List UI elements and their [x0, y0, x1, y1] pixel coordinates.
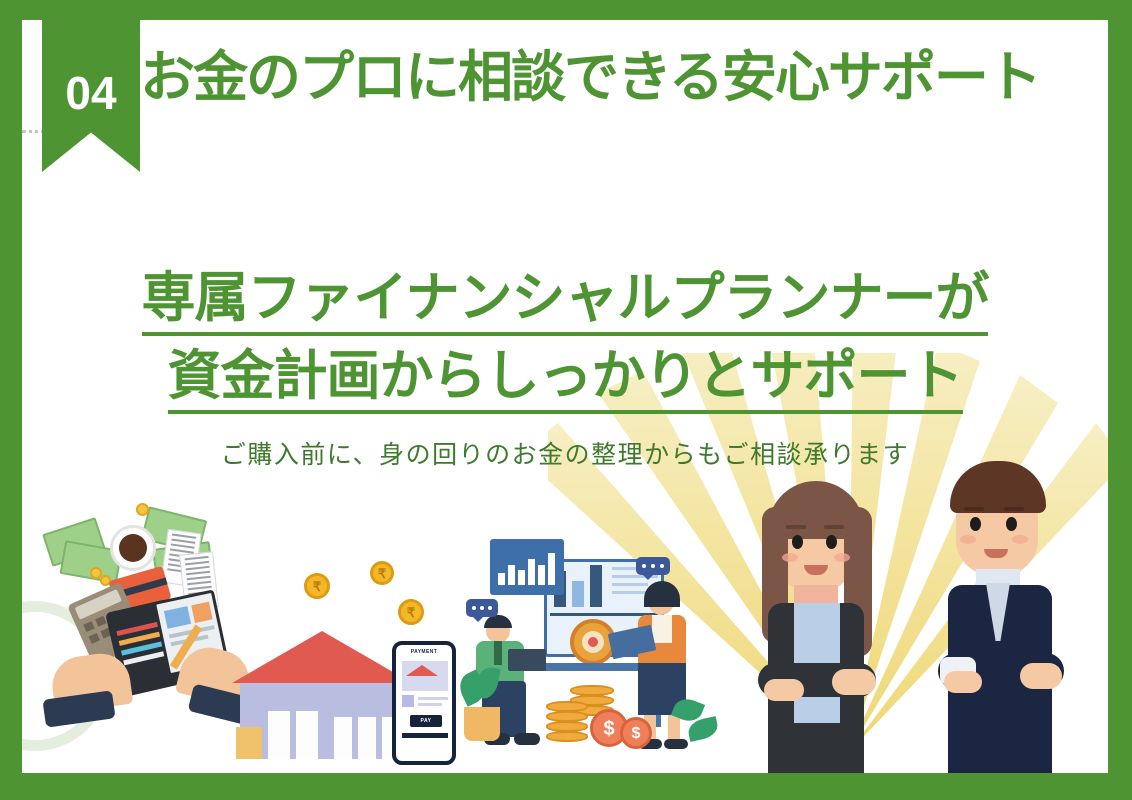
phone-pay-button[interactable]: PAY: [410, 715, 442, 727]
coin-icon: ₹: [398, 599, 424, 625]
slide-canvas: ₹ ₹ ₹ PAYMENT: [22, 20, 1108, 773]
headline-line-2: 資金計画からしっかりとサポート: [168, 343, 963, 414]
scene-office-team: $ $: [462, 523, 732, 773]
slide-root: ₹ ₹ ₹ PAYMENT: [0, 0, 1132, 800]
headline-line-1: 専属ファイナンシャルプランナーが: [142, 265, 989, 336]
scene-house-and-payment: ₹ ₹ ₹ PAYMENT: [230, 543, 460, 773]
illustration-strip: ₹ ₹ ₹ PAYMENT: [22, 453, 1108, 773]
ribbon-number: 04: [65, 66, 116, 120]
dollar-coin-icon: $: [620, 717, 652, 749]
coin-icon: ₹: [304, 573, 330, 599]
headline-block: 専属ファイナンシャルプランナーが 資金計画からしっかりとサポート: [22, 265, 1108, 421]
phone-header-label: PAYMENT: [396, 649, 452, 655]
mobile-payment-phone[interactable]: PAYMENT PAY: [392, 641, 456, 765]
chat-bubble-icon: [466, 599, 498, 617]
scene-two-planners: [718, 433, 1098, 773]
coin-icon: ₹: [370, 561, 394, 585]
planner-woman: [728, 473, 918, 773]
planner-man: [904, 457, 1094, 773]
chat-bubble-icon: [636, 557, 670, 575]
headline-subtitle: ご購入前に、身の回りのお金の整理からもご相談承ります: [22, 435, 1108, 471]
page-title: お金のプロに相談できる安心サポート: [140, 36, 1108, 118]
